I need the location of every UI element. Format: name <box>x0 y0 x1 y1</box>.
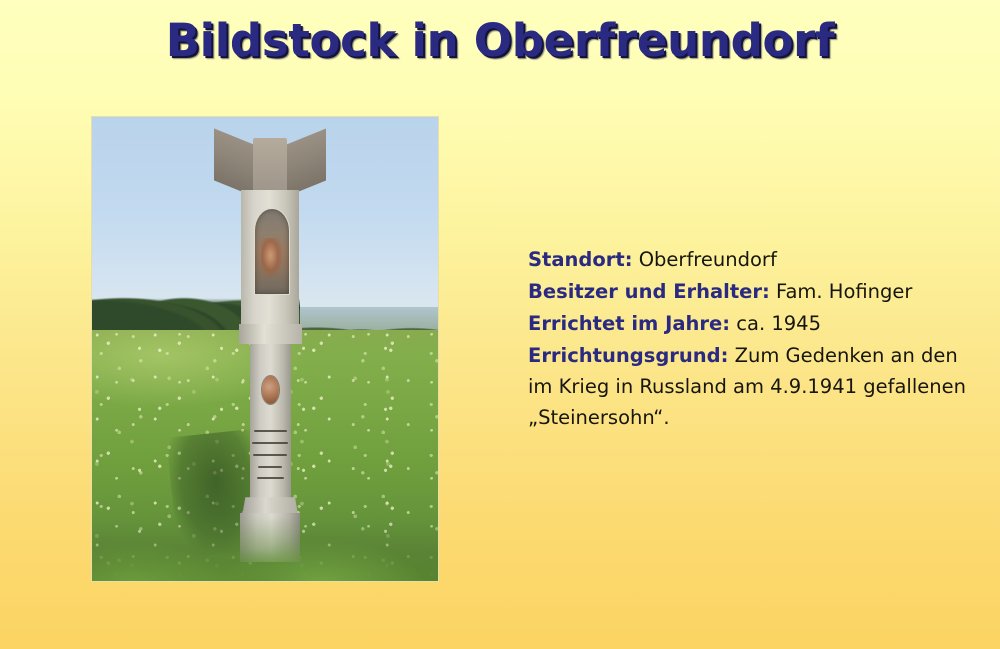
info-row-errichtet: Errichtet im Jahre: ca. 1945 <box>528 308 980 339</box>
info-label: Errichtungsgrund: <box>528 344 728 367</box>
shrine-niche <box>254 208 290 295</box>
info-row-errichtungsgrund: Errichtungsgrund: Zum Gedenken an den im… <box>528 340 980 433</box>
info-value: Oberfreundorf <box>639 248 777 271</box>
page-title: Bildstock in Oberfreundorf <box>0 14 1000 67</box>
inscription-text <box>251 421 289 490</box>
niche-painting <box>261 238 282 277</box>
bildstock-monument <box>237 154 303 558</box>
inscription-line <box>257 477 284 479</box>
info-value: Fam. Hofinger <box>776 280 912 303</box>
photo-scene <box>92 117 438 581</box>
portrait-medallion <box>262 376 279 404</box>
shaft-cap <box>239 324 302 344</box>
info-label: Errichtet im Jahre: <box>528 312 730 335</box>
inscription-line <box>254 430 287 432</box>
slide-canvas: Bildstock in Oberfreundorf <box>0 0 1000 649</box>
info-label: Besitzer und Erhalter: <box>528 280 770 303</box>
shrine-photo <box>92 117 438 581</box>
inscription-line <box>253 454 287 456</box>
inscription-line <box>252 442 288 444</box>
info-row-besitzer: Besitzer und Erhalter: Fam. Hofinger <box>528 276 980 307</box>
info-row-standort: Standort: Oberfreundorf <box>528 244 980 275</box>
info-value: ca. 1945 <box>736 312 821 335</box>
shrine-head-block <box>241 190 299 327</box>
foreground-grass <box>92 516 438 581</box>
info-list: Standort: Oberfreundorf Besitzer und Erh… <box>528 244 980 434</box>
inscription-line <box>258 466 282 468</box>
info-label: Standort: <box>528 248 633 271</box>
